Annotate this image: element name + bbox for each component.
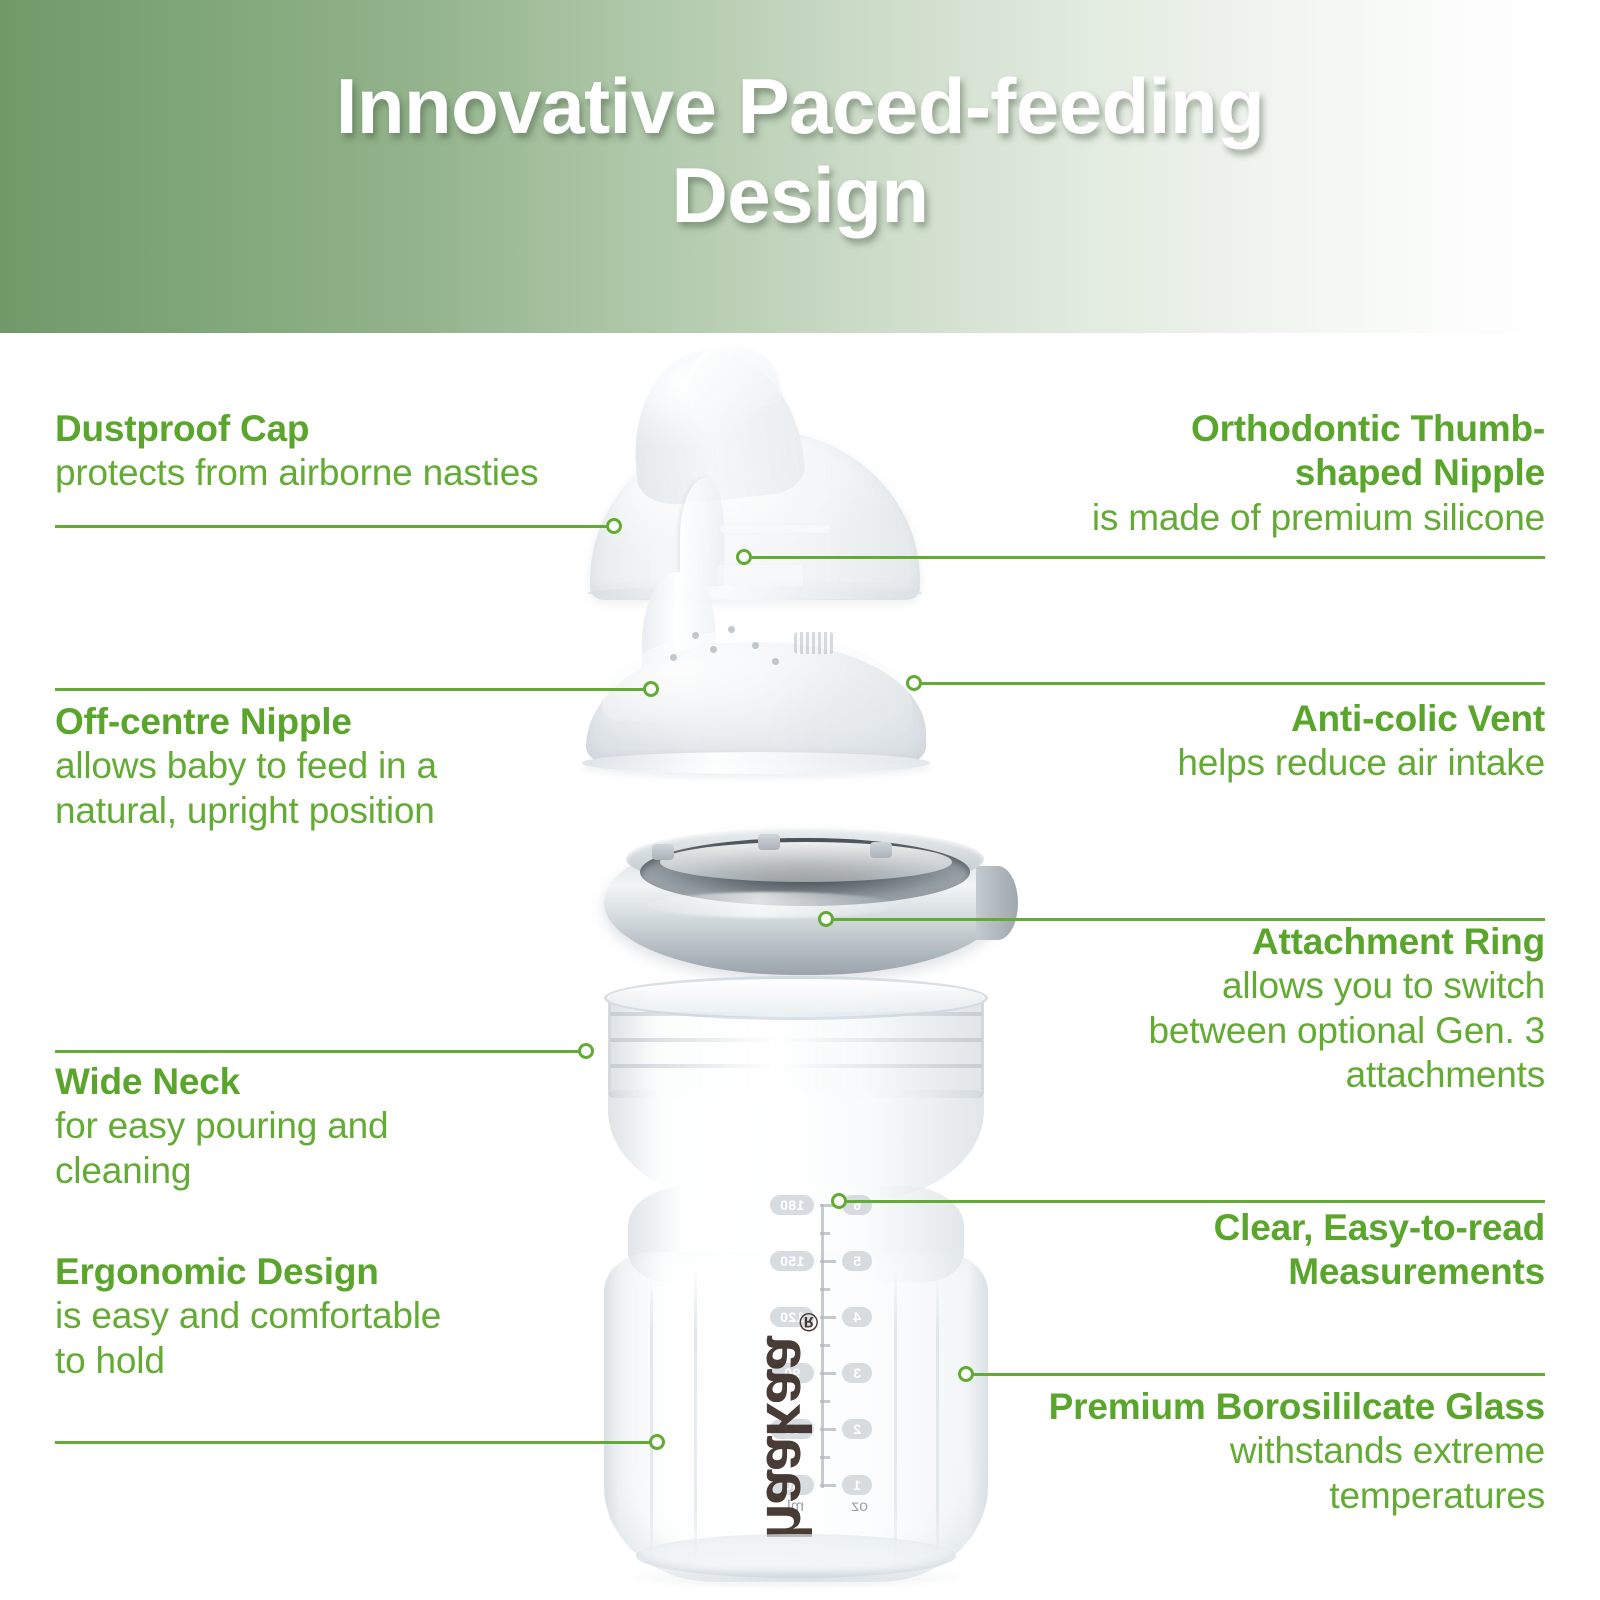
callout-ergonomic-design: Ergonomic Design is easy and comfortable… [55, 1250, 575, 1383]
callout-desc-line-2: to hold [55, 1339, 575, 1383]
callout-desc-line-1: protects from airborne nasties [55, 451, 655, 495]
callout-desc-line-1: for easy pouring and [55, 1104, 575, 1148]
callout-anti-colic-vent: Anti-colic Vent helps reduce air intake [945, 697, 1545, 786]
leader-dot-anti-colic-vent [906, 675, 922, 691]
callout-off-centre-nipple: Off-centre Nipple allows baby to feed in… [55, 700, 615, 833]
callout-measurements: Clear, Easy-to-read Measurements [945, 1206, 1545, 1295]
leader-line-anti-colic-vent [920, 682, 1545, 685]
callout-desc-line-1: is easy and comfortable [55, 1294, 575, 1338]
callout-title-line-2: Measurements [945, 1250, 1545, 1294]
callout-desc-line-1: is made of premium silicone [945, 496, 1545, 540]
callout-title: Ergonomic Design [55, 1250, 575, 1294]
bottle-thread [610, 1064, 982, 1068]
bottle-ridge [694, 1268, 697, 1568]
callout-borosilicate-glass: Premium Borosililcate Glass withstands e… [905, 1385, 1545, 1518]
leader-dot-wide-neck [578, 1043, 594, 1059]
nipple-surface-speckles [666, 624, 786, 672]
leader-dot-off-centre-nipple [643, 681, 659, 697]
bottle-ridge [650, 1276, 653, 1566]
header-banner: Innovative Paced-feeding Design [0, 0, 1600, 333]
ring-notch [652, 844, 674, 860]
scale-oz-mark: 3 [842, 1363, 872, 1383]
leader-line-borosilicate-glass [972, 1373, 1545, 1376]
callout-title: Dustproof Cap [55, 407, 655, 451]
scale-oz-mark: 4 [842, 1307, 872, 1327]
callout-desc-line-1: helps reduce air intake [945, 741, 1545, 785]
leader-line-off-centre-nipple [55, 688, 650, 691]
callout-desc-line-1: allows you to switch [945, 964, 1545, 1008]
scale-oz-mark: 2 [842, 1419, 872, 1439]
bottle-thread [610, 1038, 982, 1042]
ring-notch [870, 842, 892, 858]
brand-name: haakaa [753, 1337, 822, 1541]
leader-dot-borosilicate-glass [958, 1366, 974, 1382]
callout-desc-line-2: between optional Gen. 3 [945, 1009, 1545, 1053]
brand-logo: haakaa® [752, 1308, 824, 1541]
callout-desc-line-1: withstands extreme [905, 1429, 1545, 1473]
callout-title-line-1: Anti-colic Vent [945, 697, 1545, 741]
leader-dot-orthodontic-nipple [736, 549, 752, 565]
bottle-ridge [894, 1268, 897, 1568]
leader-line-measurements [845, 1200, 1545, 1203]
page-title-line-2: Design [0, 151, 1600, 240]
callout-desc-line-2: temperatures [905, 1474, 1545, 1518]
leader-dot-dustproof-cap [606, 518, 622, 534]
callout-attachment-ring: Attachment Ring allows you to switch bet… [945, 920, 1545, 1098]
callout-title-line-1: Premium Borosililcate Glass [905, 1385, 1545, 1429]
leader-line-wide-neck [55, 1050, 585, 1053]
cap-spout-tip [677, 333, 785, 426]
scale-oz-mark: 5 [842, 1251, 872, 1271]
callout-title: Off-centre Nipple [55, 700, 615, 744]
ring-notch [758, 834, 780, 850]
leader-dot-ergonomic-design [649, 1434, 665, 1450]
callout-desc-line-1: allows baby to feed in a [55, 744, 615, 788]
bottle-drop-shadow [620, 1566, 972, 1590]
callout-title-line-1: Orthodontic Thumb- [945, 407, 1545, 451]
page-title: Innovative Paced-feeding Design [0, 62, 1600, 240]
callout-desc-line-2: natural, upright position [55, 789, 615, 833]
leader-line-dustproof-cap [55, 525, 610, 528]
callout-title-line-2: shaped Nipple [945, 451, 1545, 495]
anti-colic-vent-detail [794, 632, 834, 654]
scale-ml-mark: 150 [770, 1251, 814, 1271]
infographic-canvas: Innovative Paced-feeding Design [0, 0, 1600, 1600]
callout-dustproof-cap: Dustproof Cap protects from airborne nas… [55, 407, 655, 496]
callout-title: Wide Neck [55, 1060, 575, 1104]
leader-line-orthodontic-nipple [748, 556, 1545, 559]
scale-ml-mark: 180 [770, 1195, 814, 1215]
callout-orthodontic-nipple: Orthodontic Thumb- shaped Nipple is made… [945, 407, 1545, 540]
nipple-flange [582, 752, 930, 774]
ring-gloss-highlight [646, 892, 896, 918]
scale-oz-mark: 1 [842, 1475, 872, 1495]
callout-title-line-1: Clear, Easy-to-read [945, 1206, 1545, 1250]
leader-dot-attachment-ring [818, 911, 834, 927]
scale-unit-oz: oz [851, 1498, 868, 1516]
callout-wide-neck: Wide Neck for easy pouring and cleaning [55, 1060, 575, 1193]
leader-dot-measurements [831, 1193, 847, 1209]
leader-line-ergonomic-design [55, 1441, 655, 1444]
cap-highlight-bar [720, 525, 830, 533]
callout-title-line-1: Attachment Ring [945, 920, 1545, 964]
callout-desc-line-3: attachments [945, 1053, 1545, 1097]
page-title-line-1: Innovative Paced-feeding [0, 62, 1600, 151]
silicone-nipple-part [586, 580, 926, 780]
callout-desc-line-2: cleaning [55, 1149, 575, 1193]
bottle-rim [604, 976, 988, 1020]
ring-thread-collar [660, 842, 952, 882]
registered-trademark-icon: ® [794, 1308, 824, 1337]
bottle-shoulder [608, 1090, 984, 1200]
